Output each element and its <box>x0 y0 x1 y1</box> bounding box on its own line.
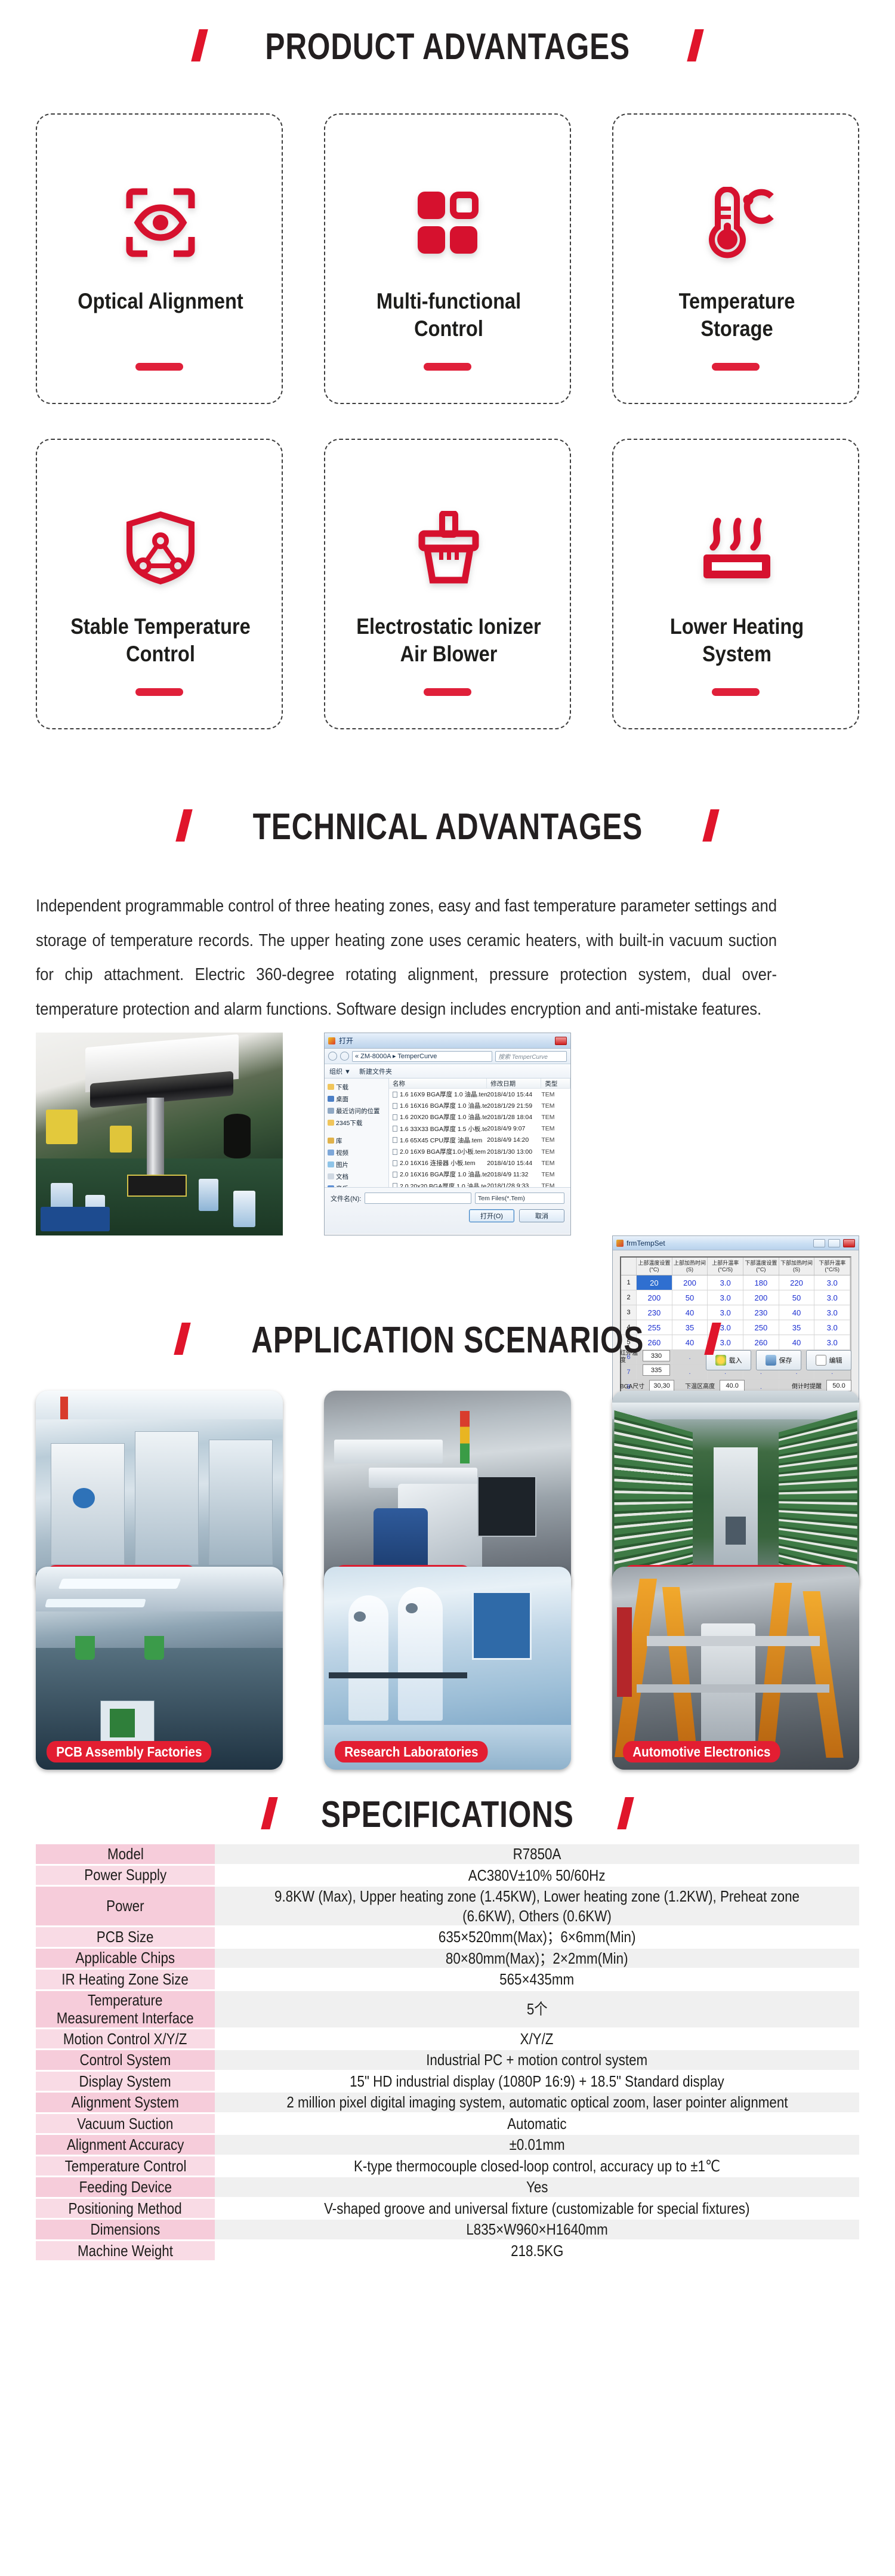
lower-zone-height-label: 下温区高度 <box>685 1381 715 1390</box>
navigation-pane[interactable]: 下载 桌面 最近访问的位置 2345下载 库 视频 图片 文档 音乐 计算机 本… <box>325 1079 389 1187</box>
file-name: 1.6 65X45 CPU厚度 油晶.tem <box>400 1136 482 1145</box>
file-icon <box>393 1183 397 1187</box>
slash-left-icon <box>174 1323 190 1355</box>
technical-advantages-paragraph: Independent programmable control of thre… <box>36 889 777 1027</box>
file-icon <box>393 1114 397 1120</box>
file-icon <box>393 1103 397 1109</box>
section-title-text: TECHNICAL ADVANTAGES <box>252 809 642 846</box>
documents-icon <box>328 1173 334 1179</box>
search-input[interactable]: 搜索 TemperCurve <box>495 1051 567 1062</box>
file-icon <box>393 1160 397 1166</box>
spec-value: 80×80mm(Max)；2×2mm(Min) <box>215 1948 859 1969</box>
spec-row: PCB Size635×520mm(Max)；6×6mm(Min) <box>36 1927 859 1948</box>
component-warehouse-photo <box>612 1391 859 1594</box>
close-icon[interactable] <box>843 1239 855 1247</box>
back-icon[interactable] <box>328 1052 337 1061</box>
spec-value: L835×W960×H1640mm <box>215 2219 859 2241</box>
advantage-label: Stable Temperature Control <box>59 613 262 668</box>
temp-profile-row[interactable]: 1202003.01802203.0 <box>621 1275 850 1290</box>
research-laboratory-photo <box>324 1567 571 1770</box>
temp-profile-row[interactable]: 2200503.0200503.0 <box>621 1290 850 1305</box>
file-row[interactable]: 1.6 33X33 BGA厚度 1.5 小板.tem2018/4/9 9:07T… <box>389 1123 570 1135</box>
file-type-select[interactable]: Tem Files(*.Tem) <box>475 1193 564 1204</box>
application-tag: PCB Assembly Factories <box>47 1741 212 1762</box>
file-date: 2018/4/9 14:20 <box>487 1136 541 1144</box>
spec-value: R7850A <box>215 1844 859 1865</box>
file-icon <box>393 1126 397 1132</box>
section-title-text: APPLICATION SCENARIOS <box>251 1322 644 1359</box>
filename-input[interactable] <box>365 1193 471 1204</box>
col-upper-rate: 上部升温率 (°C/S) <box>708 1258 743 1275</box>
cell[interactable]: 3.0 <box>814 1275 850 1290</box>
file-date: 2018/4/10 15:44 <box>487 1160 541 1167</box>
filename-label: 文件名(N): <box>331 1194 361 1203</box>
section-title-text: SPECIFICATIONS <box>321 1797 574 1834</box>
address-bar[interactable]: « ZM-8000A ▸ TemperCurve 搜索 TemperCurve <box>325 1049 570 1064</box>
spec-label: Temperature Measurement Interface <box>36 1990 215 2028</box>
file-date: 2018/1/28 9:33 <box>487 1182 541 1187</box>
spec-value: Industrial PC + motion control system <box>215 2050 859 2071</box>
column-date[interactable]: 修改日期 <box>487 1079 541 1088</box>
nav-item[interactable]: 2345下载 <box>326 1117 387 1129</box>
file-row[interactable]: 1.6 65X45 CPU厚度 油晶.tem2018/4/9 14:20TEM <box>389 1135 570 1146</box>
page-title-specifications: SPECIFICATIONS <box>0 1797 895 1834</box>
file-date: 2018/1/29 21:59 <box>487 1102 541 1110</box>
file-date: 2018/4/10 15:44 <box>487 1091 541 1098</box>
spec-row: Alignment Accuracy±0.01mm <box>36 2134 859 2156</box>
file-row[interactable]: 2.0 16X16 BGA厚度 1.0 油晶.tem2018/4/9 11:32… <box>389 1169 570 1180</box>
spec-row: DimensionsL835×W960×H1640mm <box>36 2219 859 2241</box>
page-title-product-advantages: PRODUCT ADVANTAGES <box>0 29 895 66</box>
slash-left-icon <box>261 1797 277 1829</box>
spec-row: Applicable Chips80×80mm(Max)；2×2mm(Min) <box>36 1948 859 1969</box>
file-date: 2018/1/28 18:04 <box>487 1114 541 1121</box>
file-icon <box>393 1092 397 1098</box>
spec-label: Power <box>36 1886 215 1927</box>
spec-label: Model <box>36 1844 215 1865</box>
slash-left-icon <box>175 809 192 842</box>
accent-underline-bar <box>135 688 183 696</box>
temper-curve-open-dialog[interactable]: 打开 « ZM-8000A ▸ TemperCurve 搜索 TemperCur… <box>324 1033 571 1235</box>
spec-row: Temperature Measurement Interface5个 <box>36 1990 859 2028</box>
nav-item[interactable]: 桌面 <box>326 1093 387 1105</box>
shield-network-icon <box>37 497 284 599</box>
spec-value: Yes <box>215 2177 859 2198</box>
slash-right-icon <box>617 1797 634 1829</box>
spec-label: Power Supply <box>36 1865 215 1886</box>
advantage-card-multi-functional-control[interactable]: Multi-functional Control <box>324 113 571 404</box>
page-title-technical-advantages: TECHNICAL ADVANTAGES <box>0 809 895 846</box>
bga-nozzle-pcb-photo <box>36 1033 283 1235</box>
ic-testing-factory-photo <box>324 1391 571 1594</box>
nav-item[interactable]: 下载 <box>326 1081 387 1093</box>
file-name: 1.6 20X20 BGA厚度 1.0 油晶.tem <box>400 1113 487 1121</box>
thermometer-celsius-icon <box>613 172 860 273</box>
spec-row: Control SystemIndustrial PC + motion con… <box>36 2050 859 2071</box>
nav-item[interactable]: 图片 <box>326 1158 387 1170</box>
cell[interactable]: 230 <box>637 1305 672 1320</box>
minimize-icon[interactable] <box>813 1239 825 1247</box>
spec-value: X/Y/Z <box>215 2028 859 2050</box>
file-type: TEM <box>541 1114 570 1121</box>
folder-icon <box>328 1120 334 1126</box>
file-row[interactable]: 2.0 16X16 连接器 小板.tem2018/4/10 15:44TEM <box>389 1157 570 1169</box>
grid-header: 上部温度设置 (°C) 上部加热时间 (S) 上部升温率 (°C/S) 下部温度… <box>621 1258 850 1275</box>
advantage-label: Temperature Storage <box>635 288 838 343</box>
slash-right-icon <box>687 29 703 61</box>
spec-label: Feeding Device <box>36 2177 215 2198</box>
spec-row: Temperature ControlK-type thermocouple c… <box>36 2155 859 2177</box>
spec-value: 2 million pixel digital imaging system, … <box>215 2092 859 2113</box>
file-row[interactable]: 1.6 16X9 BGA厚度 1.0 油晶.tem2018/4/10 15:44… <box>389 1089 570 1100</box>
nav-item[interactable]: 视频 <box>326 1147 387 1158</box>
spec-value: 635×520mm(Max)；6×6mm(Min) <box>215 1927 859 1948</box>
file-icon <box>393 1172 397 1178</box>
accent-underline-bar <box>712 688 760 696</box>
row-number-header <box>621 1258 637 1275</box>
accent-underline-bar <box>135 363 183 371</box>
slash-right-icon <box>703 809 720 842</box>
file-type: TEM <box>541 1091 570 1098</box>
spec-label: Display System <box>36 2070 215 2092</box>
cell[interactable]: 230 <box>743 1305 779 1320</box>
temp-profile-row[interactable]: 3230403.0230403.0 <box>621 1305 850 1320</box>
column-type[interactable]: 类型 <box>541 1079 570 1088</box>
application-tag: Automotive Electronics <box>623 1741 780 1762</box>
row-index: 3 <box>621 1305 637 1320</box>
file-type: TEM <box>541 1171 570 1178</box>
spec-label: Motion Control X/Y/Z <box>36 2028 215 2050</box>
cell[interactable]: 3.0 <box>708 1290 743 1305</box>
col-upper-time: 上部加热时间 (S) <box>672 1258 708 1275</box>
spec-row: Motion Control X/Y/ZX/Y/Z <box>36 2028 859 2050</box>
dialog-title: frmTempSet <box>626 1239 665 1247</box>
accent-underline-bar <box>424 688 471 696</box>
nav-item[interactable]: 库 <box>326 1135 387 1147</box>
spec-row: Positioning MethodV-shaped groove and un… <box>36 2198 859 2219</box>
desktop-icon <box>328 1096 334 1102</box>
application-card-automotive-electronics[interactable]: Automotive Electronics <box>612 1567 859 1770</box>
cell[interactable]: 220 <box>779 1275 815 1290</box>
spec-row: IR Heating Zone Size565×435mm <box>36 1969 859 1990</box>
pcb-assembly-factory-photo <box>36 1567 283 1770</box>
file-name: 1.6 33X33 BGA厚度 1.5 小板.tem <box>400 1124 487 1133</box>
cell[interactable]: 200 <box>637 1290 672 1305</box>
spec-value: 218.5KG <box>215 2240 859 2261</box>
recent-icon <box>328 1108 334 1114</box>
accent-underline-bar <box>424 363 471 371</box>
cell[interactable]: 40 <box>672 1305 708 1320</box>
advantage-label: Lower Heating System <box>635 613 838 668</box>
file-type: TEM <box>541 1160 570 1167</box>
automotive-electronics-photo <box>612 1567 859 1770</box>
file-name: 2.0 16X16 连接器 小板.tem <box>400 1158 476 1167</box>
file-icon <box>393 1137 397 1143</box>
close-icon[interactable] <box>555 1037 567 1045</box>
video-icon <box>328 1150 334 1155</box>
file-date: 2018/4/9 11:32 <box>487 1171 541 1178</box>
file-name: 1.6 16X16 BGA厚度 1.0 油晶.tem <box>400 1101 487 1110</box>
spec-label: PCB Size <box>36 1927 215 1948</box>
spec-label: Alignment Accuracy <box>36 2134 215 2156</box>
advantage-label: Electrostatic Ionizer Air Blower <box>347 613 550 668</box>
multi-function-grid-icon <box>325 172 572 273</box>
col-lower-time: 下部加热时间 (S) <box>779 1258 815 1275</box>
file-date: 2018/4/9 9:07 <box>487 1125 541 1132</box>
spec-value: Automatic <box>215 2113 859 2134</box>
slash-right-icon <box>705 1323 721 1355</box>
spec-value: AC380V±10% 50/60Hz <box>215 1865 859 1886</box>
file-type: TEM <box>541 1102 570 1110</box>
advantage-label: Optical Alignment <box>59 288 262 315</box>
cell[interactable]: 20 <box>637 1275 672 1290</box>
ir-temp-value-2[interactable]: 335 <box>643 1364 670 1376</box>
breadcrumb[interactable]: « ZM-8000A ▸ TemperCurve <box>352 1051 492 1062</box>
optical-alignment-icon <box>37 172 284 273</box>
cell[interactable]: 3.0 <box>814 1305 850 1320</box>
organize-menu[interactable]: 组织 ▼ <box>329 1067 351 1076</box>
application-card-research-laboratories[interactable]: Research Laboratories <box>324 1567 571 1770</box>
window-icon <box>328 1037 335 1044</box>
spec-row: Power SupplyAC380V±10% 50/60Hz <box>36 1865 859 1886</box>
advantage-card-optical-alignment[interactable]: Optical Alignment <box>36 113 283 404</box>
cell[interactable]: 3.0 <box>814 1290 850 1305</box>
spec-label: Temperature Control <box>36 2155 215 2177</box>
open-button[interactable]: 打开(O) <box>469 1209 514 1222</box>
window-icon <box>616 1240 624 1247</box>
spec-label: Control System <box>36 2050 215 2071</box>
file-icon <box>393 1149 397 1155</box>
cancel-button[interactable]: 取消 <box>519 1209 564 1222</box>
bga-size-value[interactable]: 30,30 <box>649 1380 674 1391</box>
maximize-icon[interactable] <box>828 1239 840 1247</box>
file-type: TEM <box>541 1148 570 1155</box>
file-row[interactable]: 2.0 16X9 BGA厚度1.0小板.tem2018/1/30 13:00TE… <box>389 1146 570 1157</box>
cell[interactable]: 3.0 <box>708 1305 743 1320</box>
advantage-label: Multi-functional Control <box>347 288 550 343</box>
spec-value: V-shaped groove and universal fixture (c… <box>215 2198 859 2219</box>
file-type: TEM <box>541 1182 570 1187</box>
spec-row: Feeding DeviceYes <box>36 2177 859 2198</box>
spec-label: Machine Weight <box>36 2240 215 2261</box>
advantage-card-electrostatic-ionizer-air-blower[interactable]: Electrostatic Ionizer Air Blower <box>324 439 571 729</box>
spec-value: 565×435mm <box>215 1969 859 1990</box>
specifications-table: ModelR7850APower SupplyAC380V±10% 50/60H… <box>36 1844 859 2262</box>
column-name[interactable]: 名称 <box>389 1079 487 1088</box>
spec-value: 15" HD industrial display (1080P 16:9) +… <box>215 2070 859 2092</box>
application-card-electronic-component-warehouses[interactable]: Electronic Component Warehouses <box>612 1391 859 1594</box>
lower-zone-height-value[interactable]: 40.0 <box>720 1380 745 1391</box>
cell[interactable]: 50 <box>779 1290 815 1305</box>
spec-label: Positioning Method <box>36 2198 215 2219</box>
spec-label: Dimensions <box>36 2219 215 2241</box>
application-tag: Research Laboratories <box>335 1741 488 1762</box>
advantage-card-stable-temperature-control[interactable]: Stable Temperature Control <box>36 439 283 729</box>
spec-label: Vacuum Suction <box>36 2113 215 2134</box>
file-list-header[interactable]: 名称 修改日期 类型 <box>389 1079 570 1089</box>
file-type: TEM <box>541 1125 570 1132</box>
file-name: 1.6 16X9 BGA厚度 1.0 油晶.tem <box>400 1090 487 1099</box>
folder-icon <box>328 1084 334 1090</box>
dialog-title: 打开 <box>339 1036 353 1046</box>
spec-row: Power9.8KW (Max), Upper heating zone (1.… <box>36 1886 859 1927</box>
spec-row: ModelR7850A <box>36 1844 859 1865</box>
bga-size-label: BGA尺寸 <box>620 1381 644 1390</box>
row-index: 2 <box>621 1290 637 1305</box>
cell[interactable]: 40 <box>779 1305 815 1320</box>
application-card-smt-production-lines[interactable]: SMT Production Lines <box>36 1391 283 1594</box>
ionizer-blower-icon <box>325 497 572 599</box>
countdown-label: 倒计时提醒 <box>792 1381 822 1390</box>
file-type: TEM <box>541 1136 570 1144</box>
forward-icon[interactable] <box>340 1052 349 1061</box>
application-card-ic-testing-factories[interactable]: IC Testing Factories <box>324 1391 571 1594</box>
smt-production-line-photo <box>36 1391 283 1594</box>
accent-underline-bar <box>712 363 760 371</box>
dialog-toolbar[interactable]: 组织 ▼ 新建文件夹 <box>325 1064 570 1079</box>
file-name: 2.0 20x20 BGA厚度 1.0 油晶.tem <box>400 1182 487 1187</box>
spec-row: Machine Weight218.5KG <box>36 2240 859 2261</box>
dialog-titlebar: frmTempSet <box>613 1236 859 1250</box>
row-index: 1 <box>621 1275 637 1290</box>
cell[interactable]: 200 <box>743 1290 779 1305</box>
file-name: 2.0 16X16 BGA厚度 1.0 油晶.tem <box>400 1170 487 1179</box>
cell[interactable]: 180 <box>743 1275 779 1290</box>
dialog-footer: 文件名(N): Tem Files(*.Tem) 打开(O) 取消 <box>325 1187 570 1234</box>
cell[interactable]: 50 <box>672 1290 708 1305</box>
heat-waves-icon <box>613 497 860 599</box>
col-upper-temp: 上部温度设置 (°C) <box>637 1258 672 1275</box>
new-folder-button[interactable]: 新建文件夹 <box>359 1067 392 1076</box>
cell[interactable]: 200 <box>672 1275 708 1290</box>
file-row[interactable]: 1.6 20X20 BGA厚度 1.0 油晶.tem2018/1/28 18:0… <box>389 1111 570 1123</box>
spec-row: Vacuum SuctionAutomatic <box>36 2113 859 2134</box>
col-lower-temp: 下部温度设置 (°C) <box>743 1258 779 1275</box>
spec-value: K-type thermocouple closed-loop control,… <box>215 2155 859 2177</box>
file-list[interactable]: 名称 修改日期 类型 1.6 16X9 BGA厚度 1.0 油晶.tem2018… <box>389 1079 570 1187</box>
advantage-card-temperature-storage[interactable]: Temperature Storage <box>612 113 859 404</box>
application-card-pcb-assembly-factories[interactable]: PCB Assembly Factories <box>36 1567 283 1770</box>
spec-row: Alignment System2 million pixel digital … <box>36 2092 859 2113</box>
spec-label: IR Heating Zone Size <box>36 1969 215 1990</box>
music-icon <box>328 1185 334 1187</box>
library-icon <box>328 1138 334 1144</box>
file-date: 2018/1/30 13:00 <box>487 1148 541 1155</box>
slash-left-icon <box>191 29 208 61</box>
nav-item[interactable]: 音乐 <box>326 1182 387 1187</box>
spec-value: ±0.01mm <box>215 2134 859 2156</box>
nav-item[interactable]: 最近访问的位置 <box>326 1105 387 1117</box>
pictures-icon <box>328 1161 334 1167</box>
spec-row: Display System15" HD industrial display … <box>36 2070 859 2092</box>
section-title-text: PRODUCT ADVANTAGES <box>265 29 629 66</box>
countdown-value[interactable]: 50.0 <box>826 1380 851 1391</box>
file-row[interactable]: 1.6 16X16 BGA厚度 1.0 油晶.tem2018/1/29 21:5… <box>389 1100 570 1111</box>
advantage-card-lower-heating-system[interactable]: Lower Heating System <box>612 439 859 729</box>
spec-label: Applicable Chips <box>36 1948 215 1969</box>
page-title-application-scenarios: APPLICATION SCENARIOS <box>0 1322 895 1359</box>
spec-value: 5个 <box>215 1990 859 2028</box>
file-name: 2.0 16X9 BGA厚度1.0小板.tem <box>400 1147 486 1156</box>
spec-label: Alignment System <box>36 2092 215 2113</box>
spec-value: 9.8KW (Max), Upper heating zone (1.45KW)… <box>215 1886 859 1927</box>
nav-item[interactable]: 文档 <box>326 1170 387 1182</box>
dialog-titlebar: 打开 <box>325 1033 570 1049</box>
cell[interactable]: 3.0 <box>708 1275 743 1290</box>
file-row[interactable]: 2.0 20x20 BGA厚度 1.0 油晶.tem2018/1/28 9:33… <box>389 1181 570 1188</box>
col-lower-rate: 下部升温率 (°C/S) <box>814 1258 850 1275</box>
